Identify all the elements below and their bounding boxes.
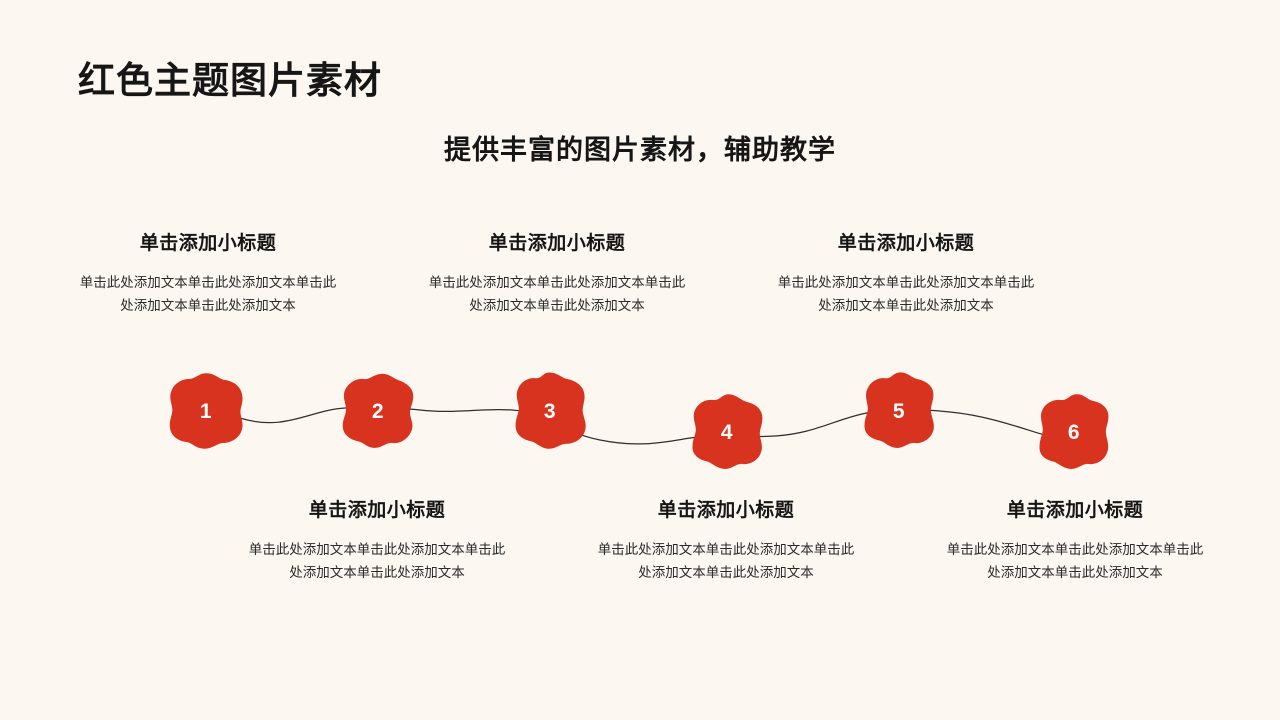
top-text-block-1[interactable]: 单击添加小标题 单击此处添加文本单击此处添加文本单击此处添加文本单击此处添加文本: [68, 232, 348, 317]
bottom-text-block-2[interactable]: 单击添加小标题 单击此处添加文本单击此处添加文本单击此处添加文本单击此处添加文本: [586, 499, 866, 584]
top-block-1-heading: 单击添加小标题: [68, 232, 348, 257]
top-block-1-body: 单击此处添加文本单击此处添加文本单击此处添加文本单击此处添加文本: [68, 271, 348, 317]
bottom-block-1-heading: 单击添加小标题: [237, 499, 517, 524]
bottom-block-3-heading: 单击添加小标题: [935, 499, 1215, 524]
bottom-text-block-1[interactable]: 单击添加小标题 单击此处添加文本单击此处添加文本单击此处添加文本单击此处添加文本: [237, 499, 517, 584]
bottom-block-2-body: 单击此处添加文本单击此处添加文本单击此处添加文本单击此处添加文本: [586, 538, 866, 584]
page-title: 红色主题图片素材: [78, 60, 382, 103]
timeline-badge-2[interactable]: 2: [337, 370, 419, 452]
page-subtitle: 提供丰富的图片素材，辅助教学: [0, 128, 1280, 167]
badge-5-number: 5: [858, 370, 940, 452]
badge-3-number: 3: [509, 370, 591, 452]
top-block-3-body: 单击此处添加文本单击此处添加文本单击此处添加文本单击此处添加文本: [766, 271, 1046, 317]
badge-1-number: 1: [165, 370, 247, 452]
top-text-block-2[interactable]: 单击添加小标题 单击此处添加文本单击此处添加文本单击此处添加文本单击此处添加文本: [417, 232, 697, 317]
badge-2-number: 2: [337, 370, 419, 452]
bottom-block-1-body: 单击此处添加文本单击此处添加文本单击此处添加文本单击此处添加文本: [237, 538, 517, 584]
top-block-2-heading: 单击添加小标题: [417, 232, 697, 257]
slide-canvas: 红色主题图片素材 提供丰富的图片素材，辅助教学 单击添加小标题 单击此处添加文本…: [0, 0, 1280, 720]
timeline-badge-5[interactable]: 5: [858, 370, 940, 452]
bottom-text-block-3[interactable]: 单击添加小标题 单击此处添加文本单击此处添加文本单击此处添加文本单击此处添加文本: [935, 499, 1215, 584]
bottom-block-2-heading: 单击添加小标题: [586, 499, 866, 524]
top-block-2-body: 单击此处添加文本单击此处添加文本单击此处添加文本单击此处添加文本: [417, 271, 697, 317]
top-text-block-3[interactable]: 单击添加小标题 单击此处添加文本单击此处添加文本单击此处添加文本单击此处添加文本: [766, 232, 1046, 317]
bottom-block-3-body: 单击此处添加文本单击此处添加文本单击此处添加文本单击此处添加文本: [935, 538, 1215, 584]
timeline-badge-4[interactable]: 4: [686, 391, 768, 473]
badge-4-number: 4: [686, 391, 768, 473]
timeline-badge-1[interactable]: 1: [165, 370, 247, 452]
top-block-3-heading: 单击添加小标题: [766, 232, 1046, 257]
timeline-badge-6[interactable]: 6: [1033, 391, 1115, 473]
badge-6-number: 6: [1033, 391, 1115, 473]
timeline-connector-line: [0, 0, 1280, 720]
timeline-badge-3[interactable]: 3: [509, 370, 591, 452]
